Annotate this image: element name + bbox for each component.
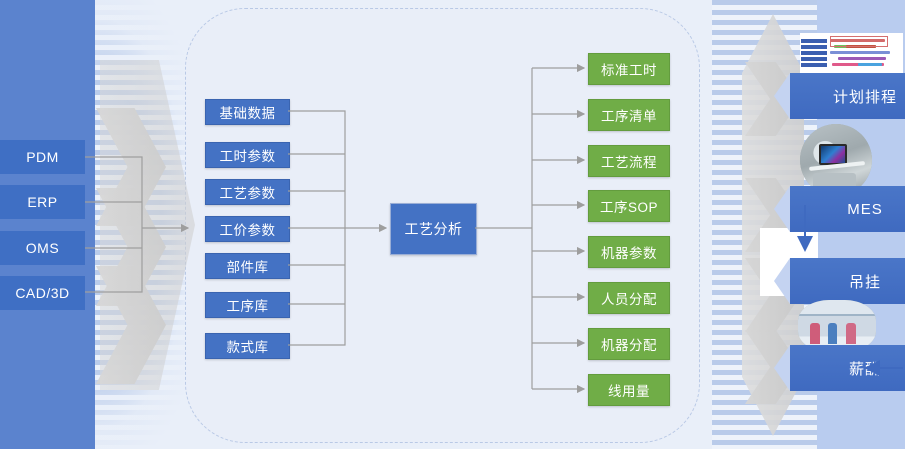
output-box-6[interactable]: 人员分配	[588, 282, 670, 314]
output-label: 工序SOP	[600, 196, 658, 216]
output-box-7[interactable]: 机器分配	[588, 328, 670, 360]
output-label: 人员分配	[601, 288, 657, 308]
source-box-oms[interactable]: OMS	[0, 231, 85, 265]
source-label: OMS	[26, 240, 59, 256]
source-box-erp[interactable]: ERP	[0, 185, 85, 219]
input-label: 基础数据	[220, 102, 276, 122]
input-box-7[interactable]: 款式库	[205, 333, 290, 359]
output-label: 标准工时	[601, 59, 657, 79]
process-box[interactable]: 工艺分析	[390, 203, 477, 255]
input-box-2[interactable]: 工时参数	[205, 142, 290, 168]
output-label: 机器分配	[601, 334, 657, 354]
source-box-pdm[interactable]: PDM	[0, 140, 85, 174]
target-banner-payroll[interactable]: 薪酬	[790, 345, 905, 391]
input-label: 工时参数	[220, 145, 276, 165]
target-banner-mes[interactable]: MES	[790, 186, 905, 232]
output-box-2[interactable]: 工序清单	[588, 99, 670, 131]
output-box-5[interactable]: 机器参数	[588, 236, 670, 268]
output-label: 机器参数	[601, 242, 657, 262]
input-label: 工序库	[227, 295, 269, 315]
output-box-1[interactable]: 标准工时	[588, 53, 670, 85]
input-box-1[interactable]: 基础数据	[205, 99, 290, 125]
input-box-5[interactable]: 部件库	[205, 253, 290, 279]
output-label: 工序清单	[601, 105, 657, 125]
target-banner-planning[interactable]: 计划排程	[790, 73, 905, 119]
source-label: CAD/3D	[15, 285, 69, 301]
target-label: 吊挂	[849, 271, 881, 292]
target-label: MES	[847, 201, 883, 218]
target-label: 计划排程	[833, 86, 897, 107]
output-label: 线用量	[608, 380, 650, 400]
diagram-canvas: PDM ERP OMS CAD/3D 基础数据 工时参数 工艺参数 工价参数 部…	[0, 0, 905, 449]
input-label: 工艺参数	[220, 182, 276, 202]
target-label: 薪酬	[849, 358, 881, 379]
input-box-3[interactable]: 工艺参数	[205, 179, 290, 205]
input-box-6[interactable]: 工序库	[205, 292, 290, 318]
input-box-4[interactable]: 工价参数	[205, 216, 290, 242]
source-box-cad3d[interactable]: CAD/3D	[0, 276, 85, 310]
input-label: 款式库	[227, 336, 269, 356]
left-blue-band	[0, 0, 95, 449]
source-label: ERP	[27, 194, 57, 210]
target-banner-hanging[interactable]: 吊挂	[790, 258, 905, 304]
output-box-3[interactable]: 工艺流程	[588, 145, 670, 177]
output-box-8[interactable]: 线用量	[588, 374, 670, 406]
planning-gantt-thumbnail	[800, 33, 903, 73]
process-label: 工艺分析	[405, 219, 463, 239]
output-box-4[interactable]: 工序SOP	[588, 190, 670, 222]
output-label: 工艺流程	[601, 151, 657, 171]
input-label: 工价参数	[220, 219, 276, 239]
source-label: PDM	[26, 149, 59, 165]
input-label: 部件库	[227, 256, 269, 276]
